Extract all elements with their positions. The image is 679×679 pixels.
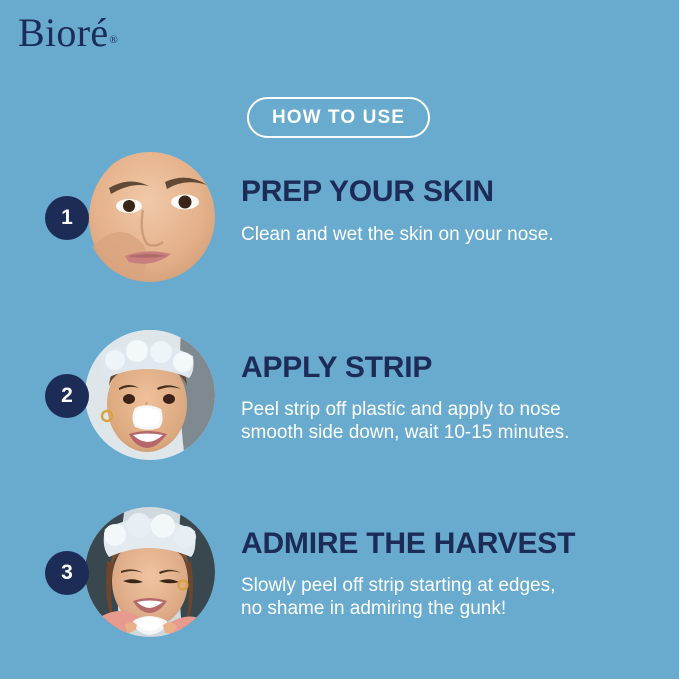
how-to-use-label: HOW TO USE bbox=[272, 107, 405, 129]
admiring-used-strip-illustration bbox=[85, 507, 215, 637]
step-3-heading: ADMIRE THE HARVEST bbox=[241, 527, 661, 561]
step-2-photo bbox=[85, 330, 215, 460]
step-2-text: APPLY STRIP Peel strip off plastic and a… bbox=[241, 351, 661, 444]
step-1-photo-wrap: 1 bbox=[85, 152, 215, 282]
nose-strip-applied-illustration bbox=[85, 330, 215, 460]
step-2-body-line-2: smooth side down, wait 10-15 minutes. bbox=[241, 421, 661, 444]
step-3-body-line-1: Slowly peel off strip starting at edges, bbox=[241, 574, 661, 597]
step-1-body-line: Clean and wet the skin on your nose. bbox=[241, 222, 661, 247]
how-to-use-pill: HOW TO USE bbox=[247, 97, 430, 138]
step-3-photo-wrap: 3 bbox=[85, 507, 215, 637]
step-3-body: Slowly peel off strip starting at edges,… bbox=[241, 574, 661, 620]
step-3-photo bbox=[85, 507, 215, 637]
step-2-heading: APPLY STRIP bbox=[241, 351, 661, 385]
step-1-photo bbox=[85, 152, 215, 282]
step-2-body-line-1: Peel strip off plastic and apply to nose bbox=[241, 398, 661, 421]
step-3-text: ADMIRE THE HARVEST Slowly peel off strip… bbox=[241, 527, 661, 620]
step-1-number-badge: 1 bbox=[45, 196, 89, 240]
step-1-body: Clean and wet the skin on your nose. bbox=[241, 222, 661, 247]
brand-name: Bioré bbox=[18, 12, 108, 54]
step-1-text: PREP YOUR SKIN Clean and wet the skin on… bbox=[241, 175, 661, 247]
face-closeup-illustration bbox=[85, 152, 215, 282]
step-2-number-badge: 2 bbox=[45, 374, 89, 418]
biore-logo: Bioré ® bbox=[18, 12, 118, 54]
step-3-number-badge: 3 bbox=[45, 551, 89, 595]
step-2-photo-wrap: 2 bbox=[85, 330, 215, 460]
registered-trademark-icon: ® bbox=[109, 34, 117, 46]
how-to-use-instruction-card: Bioré ® HOW TO USE bbox=[0, 0, 679, 679]
step-2-body: Peel strip off plastic and apply to nose… bbox=[241, 398, 661, 444]
step-1-heading: PREP YOUR SKIN bbox=[241, 175, 661, 209]
step-3-body-line-2: no shame in admiring the gunk! bbox=[241, 597, 661, 620]
